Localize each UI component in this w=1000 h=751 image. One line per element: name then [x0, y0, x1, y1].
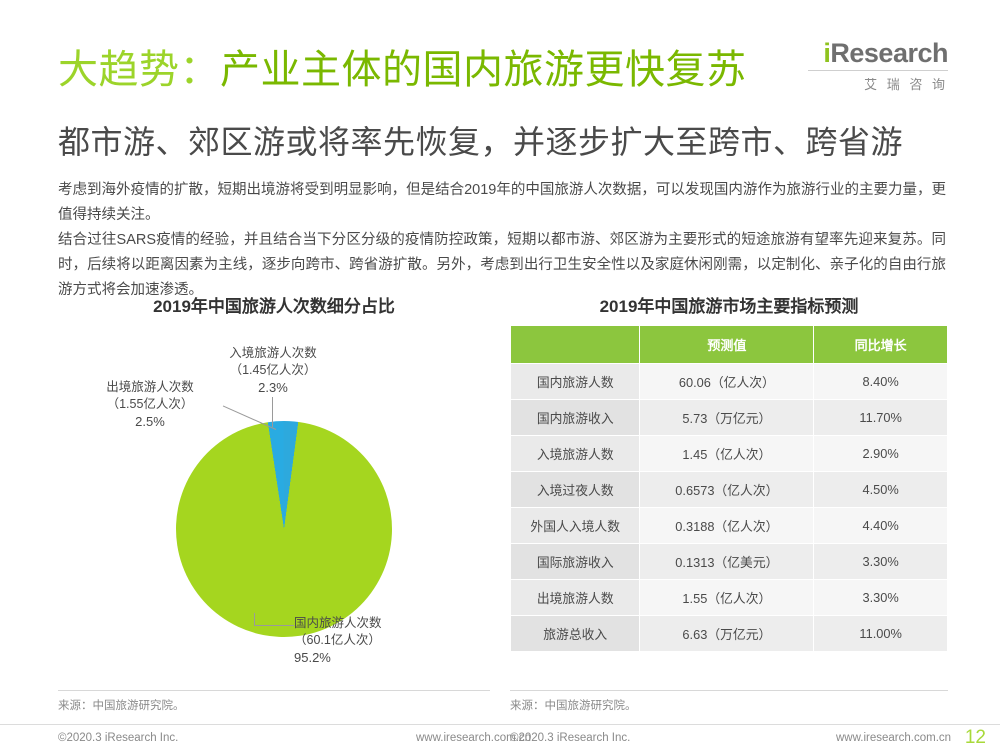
pie-label-outbound: 出境旅游人次数 （1.55亿人次） 2.5% — [80, 379, 220, 430]
table-header-2: 同比增长 — [814, 326, 948, 364]
left-column: 2019年中国旅游人次数细分占比 入境旅游人次数 （1.45亿人次） 2.3% … — [58, 292, 490, 715]
page-title: 大趋势：产业主体的国内旅游更快复苏 — [58, 46, 747, 94]
table-header-row: 预测值 同比增长 — [511, 326, 948, 364]
table-header-0 — [511, 326, 640, 364]
table-row: 外国人入境人数 0.3188（亿人次） 4.40% — [511, 508, 948, 544]
pie-label-inbound-value: （1.45亿人次） — [198, 362, 348, 379]
footer-copyright-right: ©2020.3 iResearch Inc. — [510, 732, 630, 744]
pie-label-domestic: 国内旅游人次数 （60.1亿人次） 95.2% — [294, 615, 484, 666]
pie-chart: 入境旅游人次数 （1.45亿人次） 2.3% 出境旅游人次数 （1.55亿人次）… — [58, 325, 490, 715]
leader-line-domestic-v — [254, 613, 255, 626]
table-cell-forecast: 0.1313（亿美元） — [640, 544, 814, 580]
leader-line-inbound — [272, 397, 273, 427]
footer: ©2020.3 iResearch Inc. www.iresearch.com… — [0, 724, 1000, 751]
table-row: 旅游总收入 6.63（万亿元） 11.00% — [511, 616, 948, 652]
table-cell-metric: 入境过夜人数 — [511, 472, 640, 508]
table-cell-growth: 8.40% — [814, 364, 948, 400]
pie-label-inbound-pct: 2.3% — [198, 379, 348, 396]
table-cell-forecast: 0.6573（亿人次） — [640, 472, 814, 508]
table-header-1: 预测值 — [640, 326, 814, 364]
table-cell-forecast: 60.06（亿人次） — [640, 364, 814, 400]
table-cell-growth: 2.90% — [814, 436, 948, 472]
table-cell-metric: 国内旅游人数 — [511, 364, 640, 400]
table-row: 入境旅游人数 1.45（亿人次） 2.90% — [511, 436, 948, 472]
table-cell-growth: 3.30% — [814, 580, 948, 616]
pie-label-domestic-pct: 95.2% — [294, 649, 484, 666]
table-cell-metric: 出境旅游人数 — [511, 580, 640, 616]
table-cell-metric: 旅游总收入 — [511, 616, 640, 652]
logo-chinese: 艾 瑞 咨 询 — [808, 70, 948, 93]
pie-label-outbound-value: （1.55亿人次） — [80, 396, 220, 413]
footer-copyright-left: ©2020.3 iResearch Inc. — [58, 732, 178, 744]
footer-url-right: www.iresearch.com.cn — [836, 732, 951, 744]
pie-label-inbound-name: 入境旅游人次数 — [198, 345, 348, 362]
pie-label-inbound: 入境旅游人次数 （1.45亿人次） 2.3% — [198, 345, 348, 396]
page-number: 12 — [965, 727, 986, 749]
table-row: 入境过夜人数 0.6573（亿人次） 4.50% — [511, 472, 948, 508]
table-title: 2019年中国旅游市场主要指标预测 — [510, 292, 948, 317]
page-title-rest: 产业主体的国内旅游更快复苏 — [220, 48, 747, 92]
pie-label-outbound-name: 出境旅游人次数 — [80, 379, 220, 396]
table-cell-growth: 11.00% — [814, 616, 948, 652]
table-head: 预测值 同比增长 — [511, 326, 948, 364]
source-right: 来源：中国旅游研究院。 — [510, 690, 948, 713]
table-cell-growth: 4.50% — [814, 472, 948, 508]
table-cell-metric: 外国人入境人数 — [511, 508, 640, 544]
pie-label-outbound-pct: 2.5% — [80, 413, 220, 430]
pie-label-domestic-value: （60.1亿人次） — [294, 632, 484, 649]
table-cell-growth: 11.70% — [814, 400, 948, 436]
page-title-green: 大趋势： — [58, 48, 220, 92]
leader-line-domestic — [254, 625, 294, 626]
table-cell-forecast: 1.45（亿人次） — [640, 436, 814, 472]
table-body: 国内旅游人数 60.06（亿人次） 8.40% 国内旅游收入 5.73（万亿元）… — [511, 364, 948, 652]
table-row: 出境旅游人数 1.55（亿人次） 3.30% — [511, 580, 948, 616]
logo-wordmark: iResearch — [808, 38, 948, 68]
table-cell-metric: 国际旅游收入 — [511, 544, 640, 580]
page-subtitle: 都市游、郊区游或将率先恢复，并逐步扩大至跨市、跨省游 — [58, 122, 903, 162]
body-paragraph-1: 考虑到海外疫情的扩散，短期出境游将受到明显影响，但是结合2019年的中国旅游人次… — [58, 178, 946, 228]
header: 大趋势：产业主体的国内旅游更快复苏 iResearch 艾 瑞 咨 询 — [58, 46, 948, 94]
right-column: 2019年中国旅游市场主要指标预测 预测值 同比增长 国内旅游人数 60.06（… — [510, 292, 948, 652]
iresearch-logo: iResearch 艾 瑞 咨 询 — [808, 38, 948, 93]
pie-label-domestic-name: 国内旅游人次数 — [294, 615, 484, 632]
table-cell-forecast: 5.73（万亿元） — [640, 400, 814, 436]
slide: 大趋势：产业主体的国内旅游更快复苏 iResearch 艾 瑞 咨 询 都市游、… — [0, 0, 1000, 750]
table-cell-forecast: 6.63（万亿元） — [640, 616, 814, 652]
table-cell-growth: 3.30% — [814, 544, 948, 580]
table-row: 国内旅游收入 5.73（万亿元） 11.70% — [511, 400, 948, 436]
forecast-table: 预测值 同比增长 国内旅游人数 60.06（亿人次） 8.40% 国内旅游收入 … — [510, 325, 948, 652]
table-row: 国际旅游收入 0.1313（亿美元） 3.30% — [511, 544, 948, 580]
table-cell-forecast: 0.3188（亿人次） — [640, 508, 814, 544]
table-cell-metric: 国内旅游收入 — [511, 400, 640, 436]
table-row: 国内旅游人数 60.06（亿人次） 8.40% — [511, 364, 948, 400]
logo-research: Research — [830, 38, 948, 68]
pie-chart-title: 2019年中国旅游人次数细分占比 — [58, 292, 490, 317]
table-cell-forecast: 1.55（亿人次） — [640, 580, 814, 616]
table-cell-metric: 入境旅游人数 — [511, 436, 640, 472]
source-left: 来源：中国旅游研究院。 — [58, 690, 490, 713]
table-cell-growth: 4.40% — [814, 508, 948, 544]
